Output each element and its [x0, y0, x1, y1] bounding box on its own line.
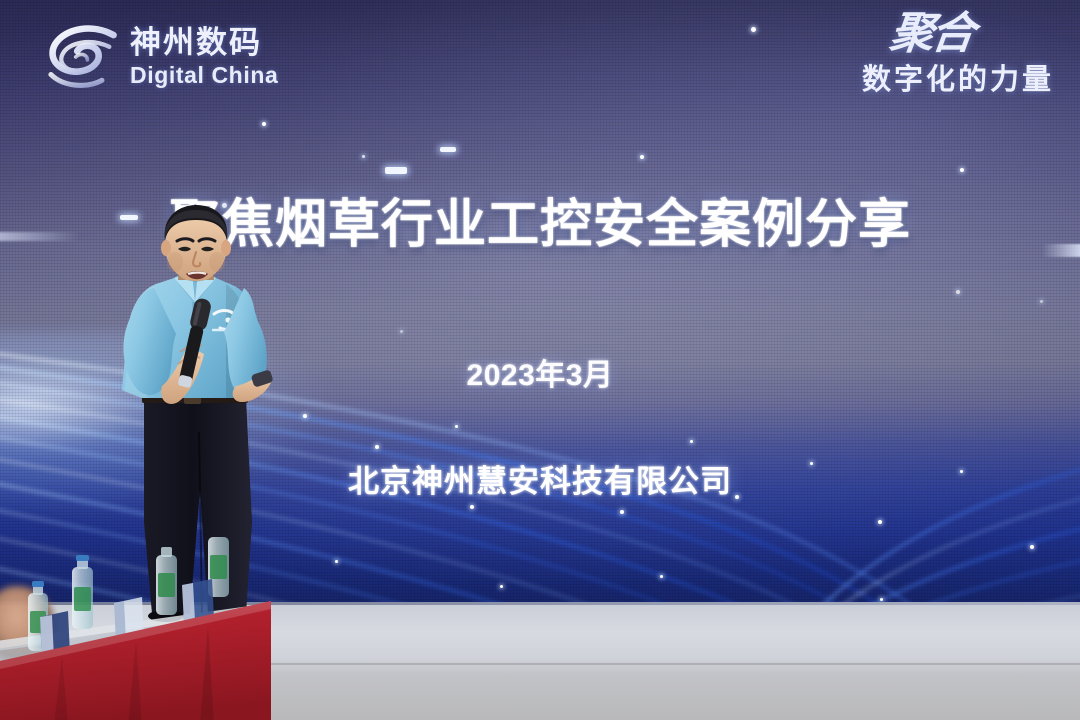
- water-bottle: [156, 547, 177, 615]
- particle-dot: [500, 585, 503, 588]
- digital-china-swirl-logo: [46, 22, 120, 92]
- particle-dot: [1030, 545, 1034, 549]
- particle-dot: [620, 510, 624, 514]
- event-calligraphy-title: 聚合: [860, 14, 975, 54]
- particle-dash: [440, 147, 456, 152]
- particle-dot: [335, 560, 338, 563]
- particle-dot: [1040, 300, 1043, 303]
- particle-dot: [362, 155, 365, 158]
- digital-china-brand-lockup: 神州数码 Digital China: [46, 22, 278, 92]
- particle-dot: [455, 425, 458, 428]
- particle-dot: [640, 155, 644, 159]
- particle-dot: [660, 575, 663, 578]
- digital-china-wordmark: 神州数码 Digital China: [130, 27, 278, 87]
- particle-dot: [470, 505, 474, 509]
- particle-dot: [956, 290, 960, 294]
- particle-dot: [960, 168, 964, 172]
- conference-stage-photo: 神州数码 Digital China 聚合 数字化的力量 聚焦烟草行业工控安全案…: [0, 0, 1080, 720]
- event-brand-lockup: 聚合 数字化的力量: [862, 14, 1054, 98]
- particle-dot: [400, 330, 403, 333]
- particle-dot: [690, 440, 693, 443]
- particle-dot: [751, 27, 756, 32]
- brand-name-cn: 神州数码: [130, 27, 278, 58]
- particle-dot: [878, 520, 882, 524]
- water-bottle: [72, 555, 93, 629]
- brand-name-en: Digital China: [130, 64, 278, 87]
- panel-table: [0, 545, 271, 720]
- particle-dash: [385, 167, 407, 174]
- particle-dot: [880, 598, 883, 601]
- event-tagline: 数字化的力量: [862, 56, 1054, 98]
- particle-dot: [262, 122, 266, 126]
- particle-dot: [375, 445, 379, 449]
